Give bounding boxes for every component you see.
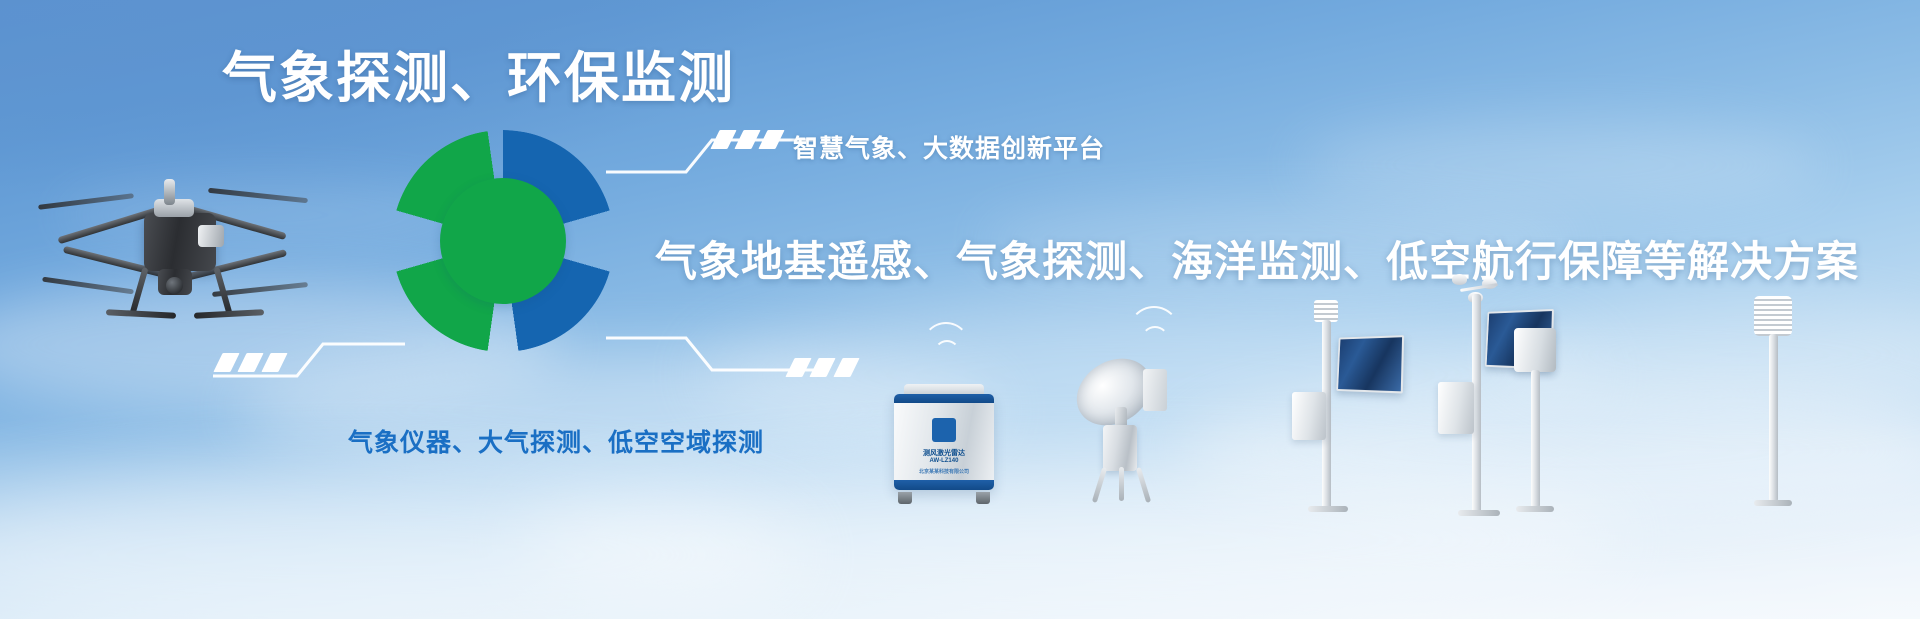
ring-logo-core bbox=[440, 178, 566, 304]
solar-weather-station-1-photo bbox=[1278, 300, 1408, 510]
equipment-enclosure bbox=[1292, 392, 1326, 440]
cabinet-brand-label: 测风激光雷达 bbox=[894, 448, 994, 458]
radiation-shield-icon bbox=[1754, 296, 1792, 336]
weather-detection-banner: 智慧气象、大数据创新平台 气象仪器、大气探测、低空空域探测 气象探测、环保监测 … bbox=[0, 0, 1920, 619]
lead-description: 气象地基遥感、气象探测、海洋监测、低空航行保障等解决方案 bbox=[655, 228, 1859, 289]
solar-panel bbox=[1336, 335, 1404, 393]
rain-gauge-photo bbox=[1498, 328, 1578, 512]
anemometer-cup bbox=[1452, 274, 1467, 285]
instrument-cabinet-photo: 测风激光雷达 AW-LZ140 北京某某科技有限公司 bbox=[888, 392, 1002, 504]
slash-marks-bottom-left bbox=[218, 353, 283, 372]
cabinet-model-label: AW-LZ140 bbox=[894, 458, 994, 464]
equipment-enclosure bbox=[1438, 382, 1474, 434]
radar-dish-photo bbox=[1075, 355, 1195, 505]
callout-bottom-left-text: 气象仪器、大气探测、低空空域探测 bbox=[348, 423, 764, 459]
cabinet-company-label: 北京某某科技有限公司 bbox=[894, 468, 994, 475]
signal-arc-icon bbox=[934, 340, 960, 366]
callout-top-right-text: 智慧气象、大数据创新平台 bbox=[793, 129, 1105, 165]
cloud-wisp bbox=[1300, 120, 1820, 210]
radiation-shield-icon bbox=[1314, 300, 1338, 322]
slash-marks-bottom-right bbox=[790, 358, 855, 377]
ring-logo bbox=[392, 130, 614, 352]
page-title: 气象探测、环保监测 bbox=[222, 48, 735, 109]
slash-marks-top-right bbox=[715, 130, 780, 149]
radiation-shield-station-photo bbox=[1738, 296, 1808, 508]
signal-arc-icon bbox=[1141, 326, 1169, 354]
drone-photo bbox=[40, 155, 310, 355]
rain-gauge-funnel bbox=[1514, 328, 1556, 372]
